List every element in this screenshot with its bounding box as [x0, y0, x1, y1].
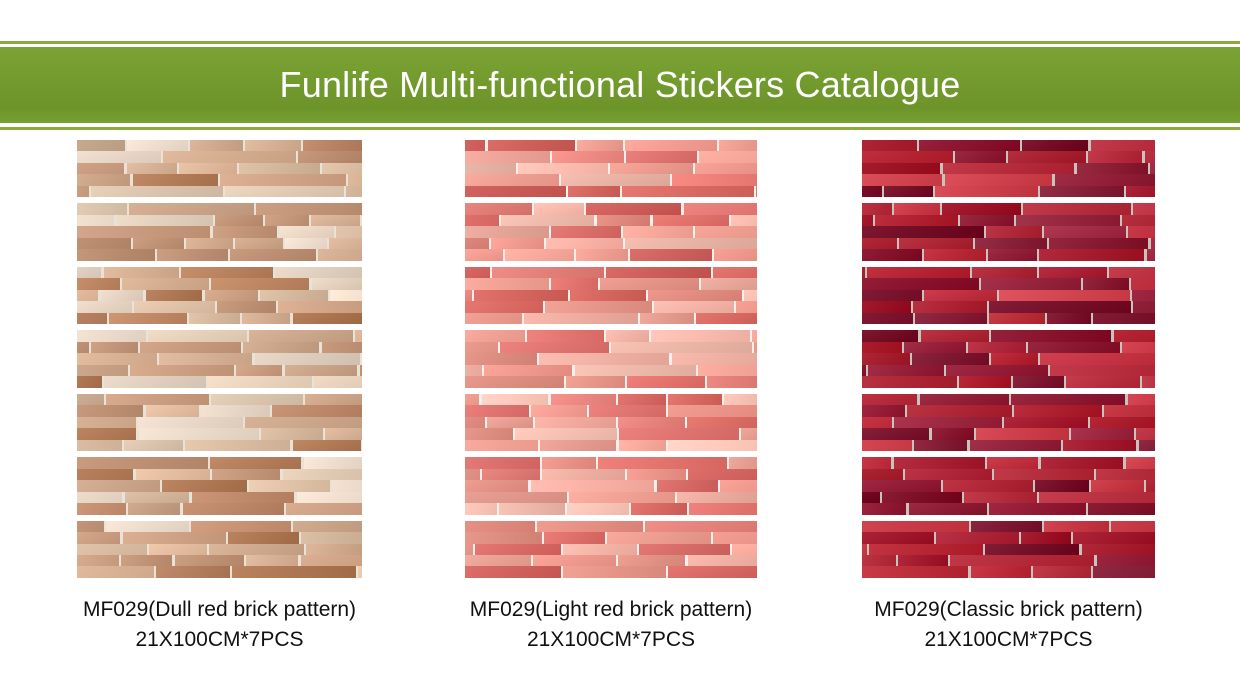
brick [261, 428, 323, 439]
brick [77, 186, 89, 197]
brick [235, 238, 283, 249]
brick [77, 151, 161, 162]
brick [899, 238, 973, 249]
brick [862, 313, 913, 324]
brick-row [862, 249, 1155, 260]
brick [515, 428, 617, 439]
brick-row [465, 394, 757, 405]
sticker-panel [77, 267, 362, 324]
brick [610, 163, 694, 174]
brick [894, 457, 985, 468]
brick [1104, 405, 1155, 416]
brick-row [77, 278, 362, 289]
brick [311, 215, 361, 226]
brick [545, 301, 652, 312]
brick [358, 566, 362, 577]
brick [1040, 353, 1155, 364]
brick [465, 140, 485, 151]
brick [77, 267, 101, 278]
brick-row [465, 492, 757, 503]
brick [181, 267, 273, 278]
brick [465, 480, 528, 491]
brick [212, 469, 280, 480]
brick [657, 480, 718, 491]
brick [907, 405, 1012, 416]
page-title: Funlife Multi-functional Stickers Catalo… [0, 47, 1240, 123]
brick [465, 365, 482, 376]
brick-row [465, 238, 757, 249]
brick [286, 503, 362, 514]
brick-row [465, 469, 757, 480]
brick [569, 492, 675, 503]
brick [618, 555, 685, 566]
brick [985, 544, 1079, 555]
brick [122, 278, 209, 289]
brick [297, 492, 362, 503]
brick [677, 492, 757, 503]
brick [1004, 417, 1088, 428]
brick [209, 544, 304, 555]
sticker-panel [862, 394, 1155, 451]
brick [121, 555, 172, 566]
brick [905, 469, 992, 480]
brick-row [77, 492, 362, 503]
brick [527, 330, 604, 341]
brick [77, 566, 154, 577]
brick [1146, 480, 1155, 491]
brick [968, 342, 1026, 353]
sticker-panel [465, 203, 757, 260]
brick [576, 249, 628, 260]
brick [862, 440, 912, 451]
brick-row [465, 555, 757, 566]
brick [1028, 342, 1120, 353]
brick [1022, 140, 1088, 151]
brick [106, 521, 189, 532]
brick [989, 503, 1086, 514]
brick [972, 267, 1036, 278]
sticker-panel [862, 140, 1155, 197]
brick [306, 544, 361, 555]
brick [304, 457, 362, 468]
brick [970, 440, 1061, 451]
brick-row [465, 215, 757, 226]
brick [668, 405, 757, 416]
brick-row [465, 163, 757, 174]
brick [862, 140, 917, 151]
brick [139, 428, 259, 439]
brick [577, 140, 623, 151]
brick [862, 203, 892, 214]
brick-row [465, 544, 757, 555]
brick [862, 376, 957, 387]
brick [185, 440, 290, 451]
brick [645, 521, 757, 532]
header-bottom-rule [0, 127, 1240, 130]
brick [713, 267, 757, 278]
brick [228, 532, 299, 543]
brick-row [862, 532, 1155, 543]
brick [332, 480, 362, 491]
brick [867, 267, 970, 278]
brick [465, 186, 566, 197]
sticker-panel [862, 521, 1155, 578]
brick [77, 440, 122, 451]
brick [535, 417, 616, 428]
brick-row [77, 151, 362, 162]
brick [862, 342, 902, 353]
brick [1049, 238, 1149, 249]
brick [124, 440, 183, 451]
brick [1013, 376, 1064, 387]
brick [744, 290, 757, 301]
brick [1077, 163, 1148, 174]
product-name: MF029(Classic brick pattern) [862, 595, 1155, 625]
brick [720, 480, 757, 491]
brick [987, 457, 1039, 468]
brick [1014, 405, 1102, 416]
brick-row [862, 140, 1155, 151]
brick-row [465, 203, 757, 214]
brick-row [862, 555, 1155, 566]
brick-row [465, 290, 757, 301]
brick [989, 313, 1045, 324]
brick-row [862, 566, 1155, 577]
brick [77, 417, 136, 428]
brick [551, 278, 598, 289]
brick [1071, 428, 1134, 439]
brick [1047, 313, 1091, 324]
brick [255, 353, 360, 364]
brick-row [862, 238, 1155, 249]
brick-row [77, 365, 362, 376]
brick [942, 203, 1021, 214]
brick-row [77, 313, 362, 324]
sticker-panel [862, 203, 1155, 260]
brick [77, 313, 107, 324]
brick [175, 555, 244, 566]
brick [106, 394, 209, 405]
brick [1122, 342, 1155, 353]
brick [465, 521, 535, 532]
brick [500, 342, 609, 353]
brick [191, 521, 291, 532]
brick [208, 376, 312, 387]
brick-row [862, 163, 1155, 174]
product-caption: MF029(Dull red brick pattern)21X100CM*7P… [77, 595, 362, 655]
brick-row [862, 492, 1155, 503]
brick [91, 186, 222, 197]
brick [724, 394, 757, 405]
brick [862, 428, 929, 439]
brick [329, 238, 362, 249]
brick [298, 151, 362, 162]
brick [862, 503, 906, 514]
brick [606, 267, 711, 278]
brick-row [862, 342, 1155, 353]
brick [988, 249, 1037, 260]
brick [862, 457, 891, 468]
brick [653, 215, 730, 226]
brick [465, 555, 531, 566]
brick [499, 503, 565, 514]
product-size: 21X100CM*7PCS [465, 625, 757, 655]
brick-row [77, 301, 362, 312]
brick [950, 555, 1094, 566]
brick [192, 492, 295, 503]
brick-row [77, 480, 362, 491]
brick [570, 290, 646, 301]
brick [260, 290, 327, 301]
brick [77, 249, 155, 260]
brick [1088, 151, 1142, 162]
brick-row [465, 278, 757, 289]
brick [862, 267, 865, 278]
brick [625, 140, 717, 151]
brick [919, 140, 1020, 151]
brick [77, 140, 125, 151]
brick [533, 555, 616, 566]
brick [640, 313, 694, 324]
product-grid: MF029(Dull red brick pattern)21X100CM*7P… [0, 140, 1240, 660]
sticker-panel [77, 203, 362, 260]
brick [1035, 480, 1088, 491]
brick-row [862, 226, 1155, 237]
brick [924, 249, 986, 260]
brick [465, 238, 489, 249]
brick [1128, 226, 1155, 237]
brick [625, 238, 757, 249]
brick [754, 342, 757, 353]
brick [77, 457, 208, 468]
brick [684, 203, 757, 214]
brick [713, 532, 757, 543]
brick [236, 365, 283, 376]
brick [213, 226, 278, 237]
brick-row [862, 330, 1155, 341]
brick [1147, 249, 1155, 260]
brick [935, 186, 1038, 197]
brick [862, 544, 867, 555]
brick [862, 174, 942, 185]
brick [465, 226, 549, 237]
brick [534, 203, 584, 214]
brick [293, 440, 361, 451]
brick [862, 353, 910, 364]
brick [225, 186, 344, 197]
brick-row [465, 376, 757, 387]
product-card[interactable]: MF029(Dull red brick pattern)21X100CM*7P… [77, 140, 362, 665]
brick-row [465, 365, 757, 376]
sticker-panel [77, 457, 362, 514]
brick [149, 544, 207, 555]
brick [567, 503, 629, 514]
brick [1073, 532, 1155, 543]
brick [322, 163, 362, 174]
brick [293, 521, 362, 532]
brick [1093, 566, 1155, 577]
sticker-panel [862, 267, 1155, 324]
brick [586, 203, 681, 214]
brick [256, 203, 362, 214]
brick [999, 290, 1129, 301]
brick [330, 290, 362, 301]
brick-row [77, 330, 362, 341]
brick [607, 532, 710, 543]
brick-row [465, 226, 757, 237]
sticker-panel [862, 330, 1155, 387]
brick [921, 330, 989, 341]
brick [991, 330, 1112, 341]
brick [619, 428, 739, 439]
brick [955, 151, 1006, 162]
brick [249, 480, 330, 491]
brick [868, 365, 944, 376]
brick [465, 566, 561, 577]
brick [465, 440, 538, 451]
brick-row [77, 532, 362, 543]
brick-row [77, 521, 362, 532]
brick [1008, 151, 1086, 162]
brick [862, 238, 897, 249]
brick-row [465, 428, 757, 439]
brick-row [77, 405, 362, 416]
brick [130, 365, 234, 376]
brick-row [77, 469, 362, 480]
brick [360, 365, 362, 376]
brick [668, 394, 723, 405]
brick [77, 238, 131, 249]
brick [465, 342, 498, 353]
brick [1133, 301, 1155, 312]
brick [109, 313, 187, 324]
brick [1111, 521, 1155, 532]
brick [189, 313, 240, 324]
brick-row [465, 186, 757, 197]
brick [1090, 417, 1155, 428]
brick-row [77, 215, 362, 226]
brick [77, 330, 146, 341]
brick [293, 313, 362, 324]
brick [862, 301, 911, 312]
brick [465, 492, 567, 503]
brick [77, 226, 210, 237]
brick [546, 238, 623, 249]
brick [217, 301, 276, 312]
brick [104, 267, 179, 278]
brick [465, 376, 564, 387]
brick [862, 555, 896, 566]
brick [127, 140, 188, 151]
sticker-image [862, 140, 1155, 578]
brick [639, 544, 729, 555]
brick [355, 330, 362, 341]
brick [618, 394, 666, 405]
brick [991, 353, 1038, 364]
brick [964, 492, 1037, 503]
brick [325, 428, 362, 439]
brick [1039, 267, 1107, 278]
brick [232, 566, 356, 577]
brick [482, 469, 539, 480]
brick-row [862, 428, 1155, 439]
brick [239, 163, 320, 174]
brick [465, 405, 529, 416]
brick-row [465, 342, 757, 353]
brick-row [465, 174, 757, 185]
brick [894, 417, 1002, 428]
brick [688, 469, 757, 480]
brick [1091, 140, 1155, 151]
brick [501, 215, 595, 226]
brick [77, 290, 98, 301]
brick [936, 532, 1019, 543]
brick [77, 492, 122, 503]
brick-row [465, 313, 757, 324]
brick [943, 480, 1033, 491]
brick [465, 457, 540, 468]
brick [869, 544, 982, 555]
brick [245, 417, 362, 428]
product-name: MF029(Dull red brick pattern) [77, 595, 362, 625]
product-card[interactable]: MF029(Classic brick pattern)21X100CM*7PC… [862, 140, 1155, 665]
brick [322, 342, 362, 353]
brick [862, 330, 918, 341]
brick-row [465, 330, 757, 341]
brick [912, 353, 989, 364]
brick [862, 151, 953, 162]
brick [1055, 174, 1155, 185]
brick [465, 469, 480, 480]
brick [672, 353, 757, 364]
brick [465, 215, 499, 226]
brick [205, 290, 258, 301]
brick [862, 492, 880, 503]
brick [336, 226, 362, 237]
brick-row [862, 417, 1155, 428]
brick [101, 290, 144, 301]
brick [77, 163, 124, 174]
brick-row [862, 313, 1155, 324]
brick [465, 203, 532, 214]
brick [186, 238, 232, 249]
brick [230, 249, 316, 260]
brick [862, 405, 905, 416]
brick [77, 215, 114, 226]
brick [862, 521, 969, 532]
brick [465, 290, 472, 301]
brick [133, 238, 184, 249]
brick [518, 163, 608, 174]
brick [943, 163, 1075, 174]
brick [975, 238, 1046, 249]
brick-row [862, 521, 1155, 532]
sticker-panel [465, 457, 757, 514]
brick-row [77, 238, 362, 249]
brick [163, 151, 296, 162]
brick [129, 203, 254, 214]
brick [651, 330, 750, 341]
brick-row [465, 440, 757, 451]
brick [138, 417, 243, 428]
product-card[interactable]: MF029(Light red brick pattern)21X100CM*7… [465, 140, 757, 665]
brick [862, 566, 968, 577]
brick [474, 290, 568, 301]
brick [465, 544, 473, 555]
brick [1126, 457, 1155, 468]
brick [924, 290, 997, 301]
brick [960, 215, 1014, 226]
